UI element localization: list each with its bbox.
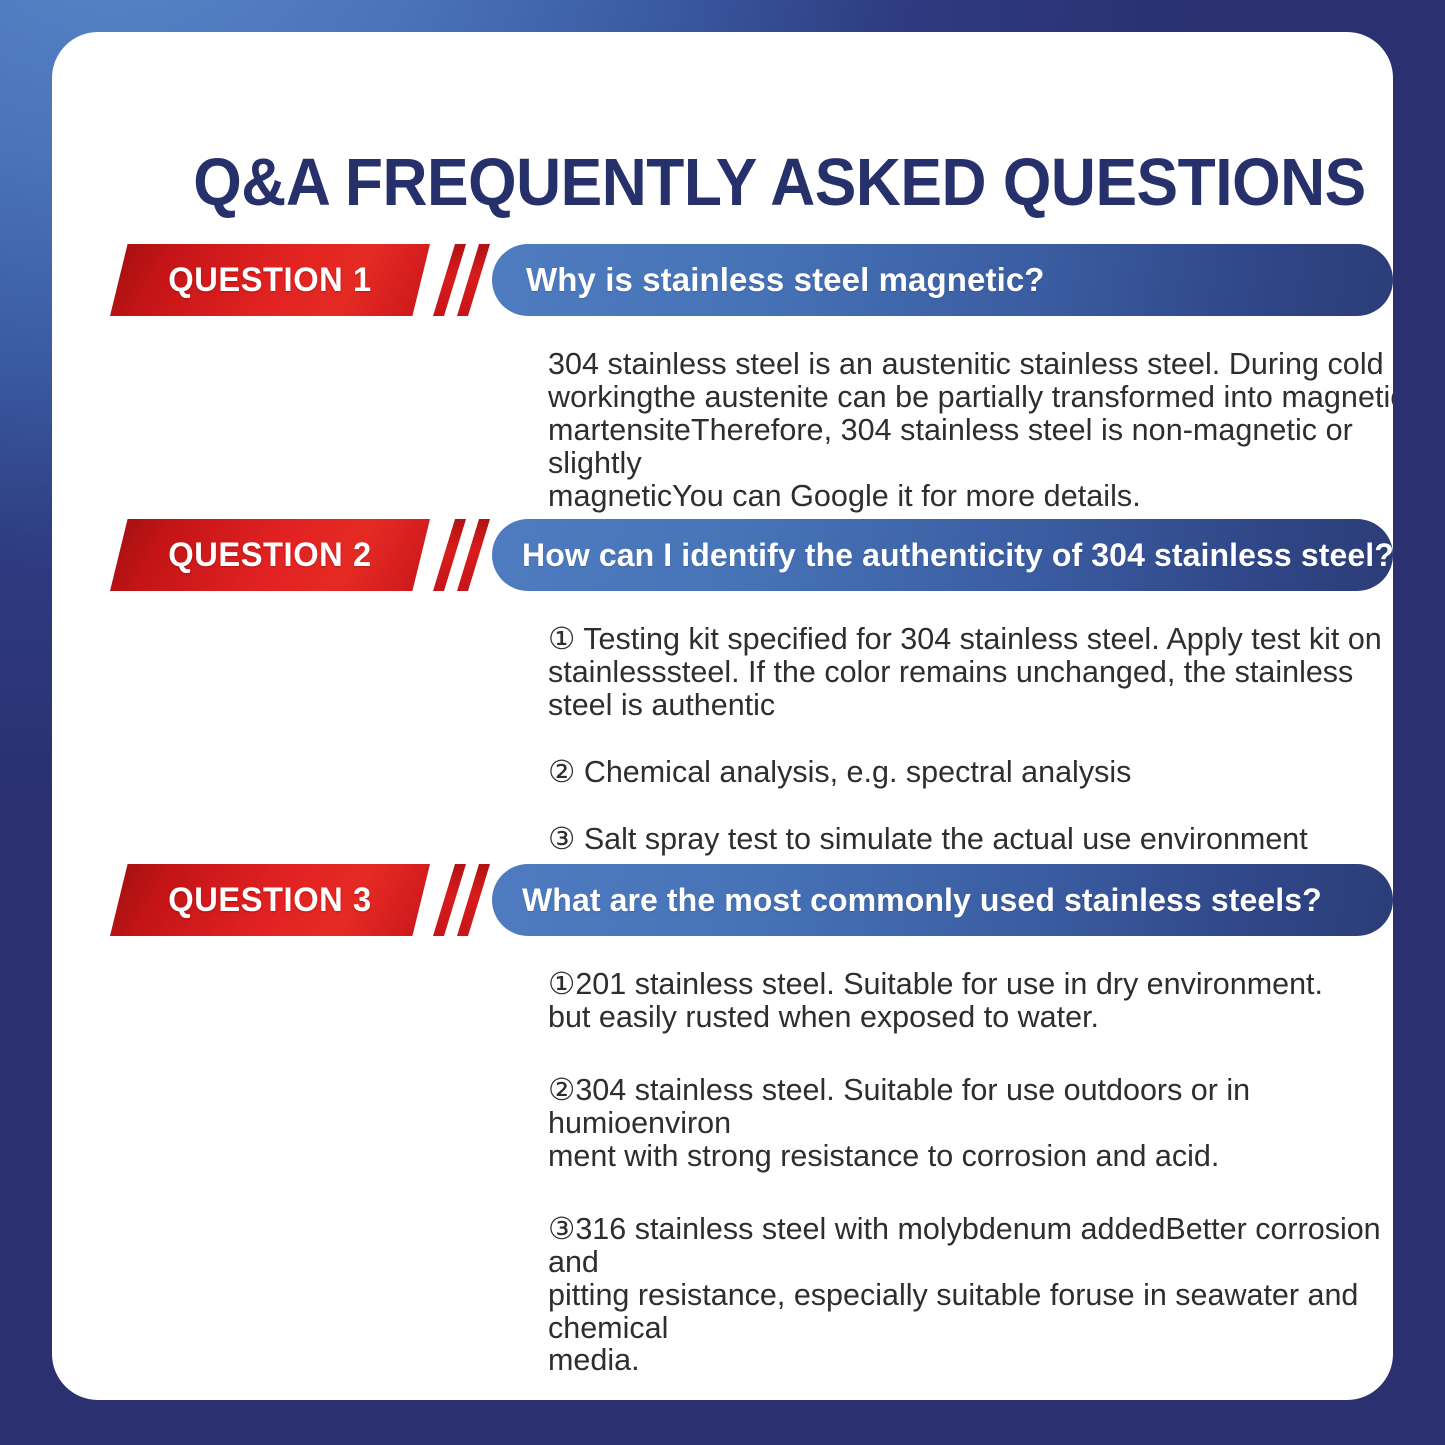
answer-item: ①201 stainless steel. Suitable for use i… [548,968,1393,1034]
question-pill-label: What are the most commonly used stainles… [522,882,1322,919]
answer-item: ②304 stainless steel. Suitable for use o… [548,1074,1393,1173]
answer-item: ① Testing kit specified for 304 stainles… [548,623,1393,722]
question-tag-2[interactable]: QUESTION 2 [110,519,430,591]
answer-paragraph: 304 stainless steel is an austenitic sta… [548,348,1393,513]
question-pill-3[interactable]: What are the most commonly used stainles… [492,864,1393,936]
faq-card: Q&A FREQUENTLY ASKED QUESTIONS QUESTION … [52,32,1393,1400]
faq-page: Q&A FREQUENTLY ASKED QUESTIONS QUESTION … [0,0,1445,1445]
question-block-2: QUESTION 2 How can I identify the authen… [52,519,1393,591]
question-tag-label: QUESTION 3 [168,881,371,920]
question-tag-label: QUESTION 1 [168,261,371,300]
question-header-3: QUESTION 3 What are the most commonly us… [52,864,1393,936]
answer-item: ③ Salt spray test to simulate the actual… [548,823,1393,856]
answer-item: ③316 stainless steel with molybdenum add… [548,1213,1393,1378]
question-tag-label: QUESTION 2 [168,536,371,575]
question-header-1: QUESTION 1 Why is stainless steel magnet… [52,244,1393,316]
question-block-3: QUESTION 3 What are the most commonly us… [52,864,1393,936]
question-header-2: QUESTION 2 How can I identify the authen… [52,519,1393,591]
page-title: Q&A FREQUENTLY ASKED QUESTIONS [193,149,1290,216]
question-pill-2[interactable]: How can I identify the authenticity of 3… [492,519,1393,591]
slash-separator-icon [440,244,494,316]
question-pill-1[interactable]: Why is stainless steel magnetic? [492,244,1393,316]
slash-separator-icon [440,864,494,936]
question-tag-1[interactable]: QUESTION 1 [110,244,430,316]
question-pill-label: How can I identify the authenticity of 3… [522,537,1393,574]
question-pill-label: Why is stainless steel magnetic? [526,261,1045,299]
answer-body-2: ① Testing kit specified for 304 stainles… [548,623,1393,856]
answer-item: ② Chemical analysis, e.g. spectral analy… [548,756,1393,789]
slash-separator-icon [440,519,494,591]
question-block-1: QUESTION 1 Why is stainless steel magnet… [52,244,1393,316]
answer-body-1: 304 stainless steel is an austenitic sta… [548,348,1393,513]
question-tag-3[interactable]: QUESTION 3 [110,864,430,936]
answer-body-3: ①201 stainless steel. Suitable for use i… [548,968,1393,1400]
